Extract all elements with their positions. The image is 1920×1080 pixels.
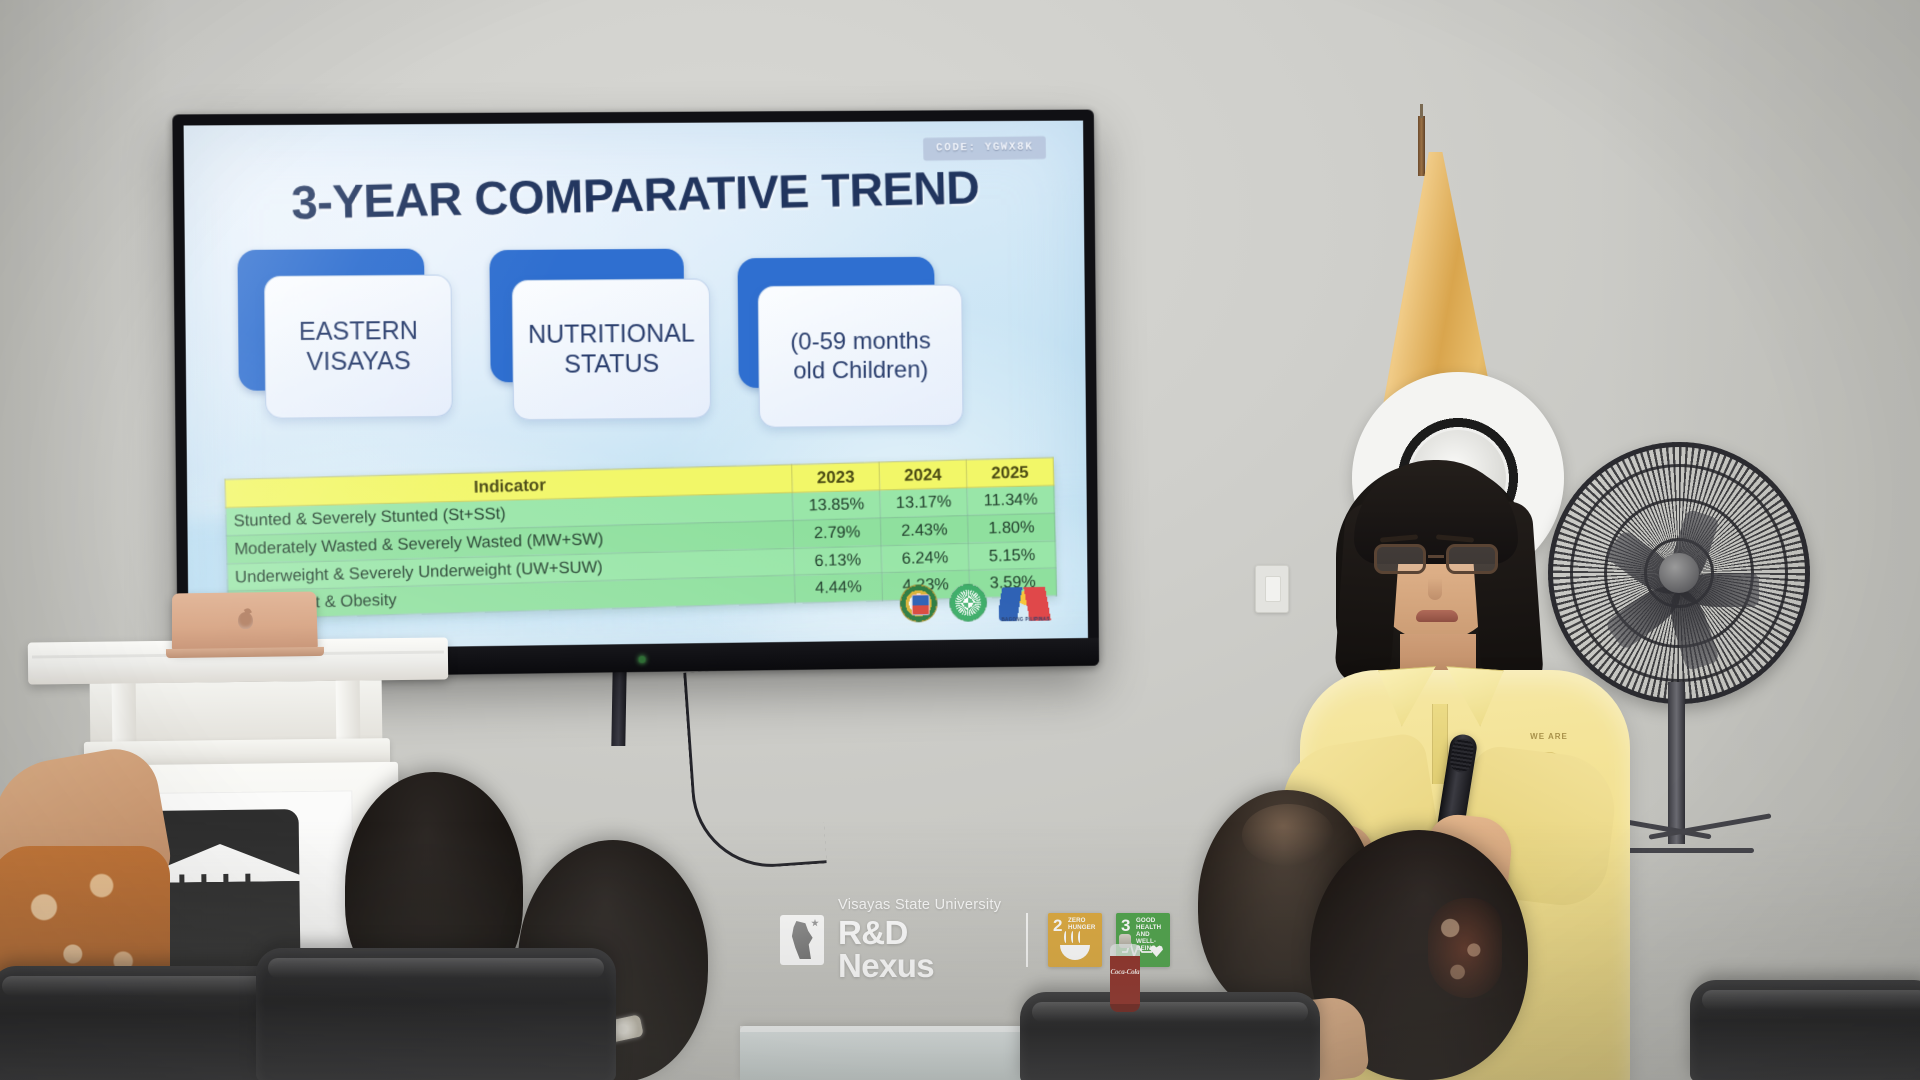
slide-footer-logos: BAGONG PILIPINAS <box>900 583 1053 623</box>
floor-shadow <box>0 820 1920 1080</box>
cell-2023: 4.44% <box>794 573 882 603</box>
macbook-laptop[interactable] <box>172 591 318 650</box>
cell-2025: 1.80% <box>968 513 1056 543</box>
slide-topic-cards: EASTERN VISAYAS NUTRITIONAL STATUS <box>237 240 1078 437</box>
light-switch[interactable] <box>1255 565 1289 613</box>
room-background: CODE: YGWX8K 3-YEAR COMPARATIVE TREND EA… <box>0 0 1920 1080</box>
fan-hub <box>1659 553 1699 593</box>
column-header-2024: 2024 <box>879 460 967 490</box>
card-face: EASTERN VISAYAS <box>264 274 453 418</box>
cell-2025: 11.34% <box>967 486 1055 516</box>
eyeglasses-icon <box>1372 544 1500 576</box>
card-line-2: STATUS <box>528 348 695 380</box>
cell-2024: 6.24% <box>881 543 969 573</box>
slide-code-badge: CODE: YGWX8K <box>923 136 1046 161</box>
cell-2024: 2.43% <box>880 515 968 545</box>
tv-stand <box>611 668 626 746</box>
column-header-2025: 2025 <box>966 458 1054 488</box>
presenter-nose <box>1428 578 1442 600</box>
tv-power-led-icon <box>639 656 646 663</box>
bagong-pilipinas-seal-icon: BAGONG PILIPINAS <box>999 587 1053 621</box>
card-line-1: EASTERN <box>299 315 418 347</box>
cell-2025: 5.15% <box>968 541 1056 571</box>
apple-logo-icon <box>237 612 252 629</box>
card-face: NUTRITIONAL STATUS <box>512 278 711 420</box>
presentation-slide: CODE: YGWX8K 3-YEAR COMPARATIVE TREND EA… <box>184 121 1088 651</box>
presenter-mouth <box>1416 610 1458 622</box>
card-line-1: NUTRITIONAL <box>528 318 695 350</box>
shirt-slogan-text: WE ARE <box>1508 732 1590 741</box>
card-line-2: VISAYAS <box>299 346 418 378</box>
dost-seal-icon <box>900 584 938 622</box>
card-line-2: old Children) <box>791 355 932 385</box>
card-line-1: (0-59 months <box>790 326 931 356</box>
page-title: 3-YEAR COMPARATIVE TREND <box>184 157 1085 232</box>
lectern-neck <box>90 680 383 744</box>
card-face: (0-59 months old Children) <box>758 284 964 427</box>
flag-pole <box>1418 116 1425 176</box>
column-header-2023: 2023 <box>792 462 880 492</box>
cell-2024: 13.17% <box>880 488 968 518</box>
cell-2023: 13.85% <box>792 490 880 520</box>
nnc-seal-icon <box>949 584 987 622</box>
cell-2023: 2.79% <box>793 518 881 548</box>
cell-2023: 6.13% <box>794 545 882 575</box>
